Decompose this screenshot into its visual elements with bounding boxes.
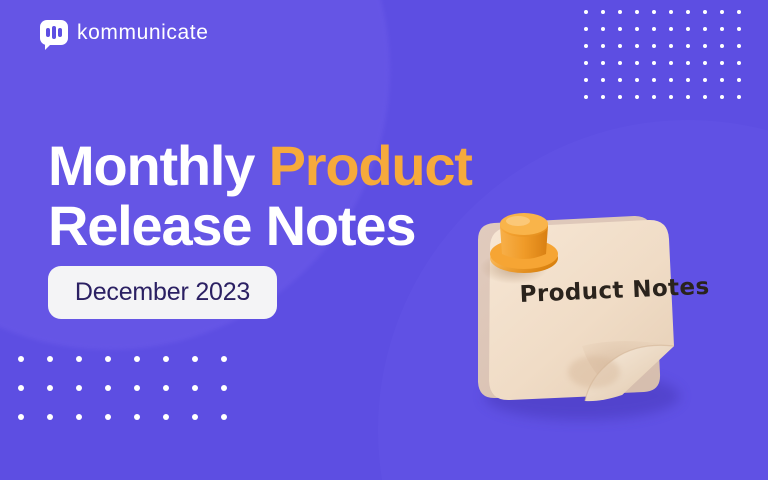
grid-dot — [686, 27, 690, 31]
grid-dot — [601, 44, 605, 48]
grid-dot — [737, 61, 741, 65]
grid-dot — [686, 78, 690, 82]
grid-dot — [601, 10, 605, 14]
grid-dot — [686, 10, 690, 14]
grid-dot — [134, 385, 140, 391]
headline-line2: Release Notes — [48, 196, 472, 256]
grid-dot — [703, 44, 707, 48]
grid-dot — [737, 44, 741, 48]
grid-dot — [652, 61, 656, 65]
grid-dot — [601, 61, 605, 65]
grid-dot — [669, 95, 673, 99]
grid-dot — [76, 414, 82, 420]
grid-dot — [584, 95, 588, 99]
grid-dot — [635, 95, 639, 99]
headline-line1-accent: Product — [269, 134, 472, 197]
grid-dot — [686, 95, 690, 99]
grid-dot — [584, 78, 588, 82]
grid-dot — [737, 27, 741, 31]
grid-dot — [652, 27, 656, 31]
grid-dot — [652, 95, 656, 99]
grid-dot — [618, 61, 622, 65]
grid-dot — [163, 385, 169, 391]
grid-dot — [192, 356, 198, 362]
brand-name: kommunicate — [77, 21, 208, 45]
grid-dot — [601, 78, 605, 82]
grid-dot — [76, 385, 82, 391]
grid-dot — [720, 10, 724, 14]
grid-dot — [134, 414, 140, 420]
grid-dot — [635, 44, 639, 48]
grid-dot — [584, 27, 588, 31]
grid-dot — [18, 385, 24, 391]
grid-dot — [163, 356, 169, 362]
date-badge-label: December 2023 — [75, 278, 250, 307]
grid-dot — [720, 95, 724, 99]
grid-dot — [737, 95, 741, 99]
grid-dot — [669, 27, 673, 31]
grid-dot — [635, 27, 639, 31]
grid-dot — [669, 61, 673, 65]
grid-dot — [720, 61, 724, 65]
grid-dot — [618, 44, 622, 48]
grid-dot — [192, 414, 198, 420]
grid-dot — [105, 414, 111, 420]
grid-dot — [192, 385, 198, 391]
grid-dot — [703, 27, 707, 31]
chat-bubble-icon — [40, 20, 68, 45]
grid-dot — [737, 78, 741, 82]
grid-dot — [737, 10, 741, 14]
grid-dot — [703, 10, 707, 14]
grid-dot — [18, 356, 24, 362]
grid-dot — [618, 78, 622, 82]
grid-dot — [163, 414, 169, 420]
grid-dot — [76, 356, 82, 362]
date-badge: December 2023 — [48, 266, 277, 319]
grid-dot — [221, 385, 227, 391]
grid-dot — [105, 356, 111, 362]
grid-dot — [221, 414, 227, 420]
dot-grid-top-right — [584, 10, 754, 110]
grid-dot — [652, 44, 656, 48]
grid-dot — [47, 356, 53, 362]
grid-dot — [105, 385, 111, 391]
grid-dot — [652, 78, 656, 82]
dot-grid-bottom-left — [18, 356, 248, 436]
grid-dot — [601, 27, 605, 31]
grid-dot — [652, 10, 656, 14]
grid-dot — [134, 356, 140, 362]
grid-dot — [584, 10, 588, 14]
grid-dot — [635, 10, 639, 14]
grid-dot — [669, 44, 673, 48]
grid-dot — [47, 414, 53, 420]
grid-dot — [669, 78, 673, 82]
grid-dot — [669, 10, 673, 14]
grid-dot — [221, 356, 227, 362]
grid-dot — [703, 61, 707, 65]
grid-dot — [618, 10, 622, 14]
headline-line1-plain: Monthly — [48, 134, 269, 197]
release-notes-banner: kommunicate Monthly Product Release Note… — [0, 0, 768, 480]
grid-dot — [618, 95, 622, 99]
grid-dot — [720, 27, 724, 31]
grid-dot — [635, 61, 639, 65]
grid-dot — [686, 44, 690, 48]
brand-logo[interactable]: kommunicate — [40, 20, 208, 45]
page-title: Monthly Product Release Notes — [48, 136, 472, 256]
grid-dot — [703, 95, 707, 99]
sticky-note-illustration: Product Notes — [462, 196, 690, 416]
grid-dot — [703, 78, 707, 82]
grid-dot — [720, 44, 724, 48]
grid-dot — [18, 414, 24, 420]
grid-dot — [635, 78, 639, 82]
grid-dot — [686, 61, 690, 65]
grid-dot — [618, 27, 622, 31]
grid-dot — [601, 95, 605, 99]
grid-dot — [584, 44, 588, 48]
grid-dot — [720, 78, 724, 82]
grid-dot — [584, 61, 588, 65]
grid-dot — [47, 385, 53, 391]
